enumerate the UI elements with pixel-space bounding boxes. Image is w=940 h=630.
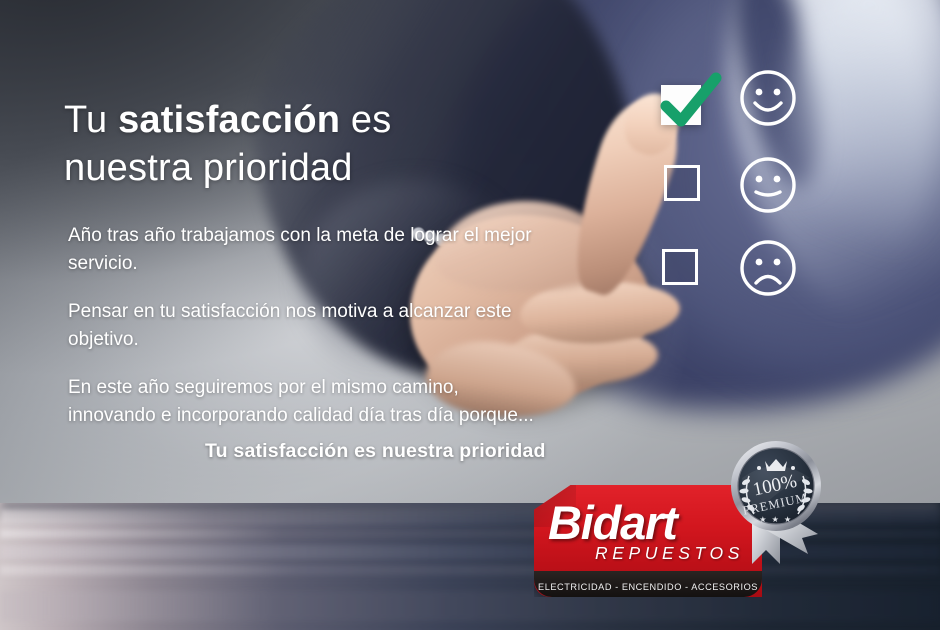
promotional-banner: Tu satisfacción es nuestra prioridad Año… — [0, 0, 940, 630]
page-title: Tu satisfacción es nuestra prioridad — [64, 96, 494, 192]
happy-face-icon — [738, 68, 798, 128]
headline-line1-post: es — [340, 99, 391, 141]
headline-line1-strong: satisfacción — [118, 99, 340, 141]
body-copy: Año tras año trabajamos con la meta de l… — [68, 222, 548, 450]
closing-tagline: Tu satisfacción es nuestra prioridad — [205, 440, 546, 463]
paragraph-2: Pensar en tu satisfacción nos motiva a a… — [68, 298, 548, 354]
badge-stars: ★ ★ ★ — [759, 515, 792, 524]
headline-line2: nuestra prioridad — [64, 147, 353, 189]
paragraph-1: Año tras año trabajamos con la meta de l… — [68, 222, 548, 278]
logo-tagline-text: ELECTRICIDAD - ENCENDIDO - ACCESORIOS — [534, 582, 762, 592]
logo-brand-name: Bidart — [548, 499, 677, 546]
band-streak — [0, 591, 940, 621]
checkbox-option-3-empty[interactable] — [662, 249, 698, 285]
sad-face-icon — [738, 238, 798, 298]
checkmark-icon — [656, 72, 724, 134]
neutral-face-icon — [738, 155, 798, 215]
checkbox-option-2-empty[interactable] — [664, 165, 700, 201]
premium-badge: 100% PREMIUM ★ ★ ★ — [722, 438, 830, 578]
headline-line1-pre: Tu — [64, 99, 118, 141]
paragraph-3: En este año seguiremos por el mismo cami… — [68, 374, 548, 430]
